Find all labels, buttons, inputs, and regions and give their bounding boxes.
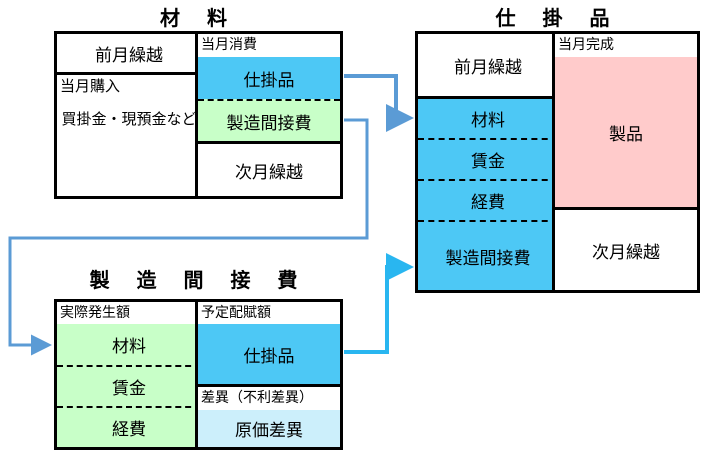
shikakarihin-cell-zairyo: 材料 xyxy=(418,96,558,138)
shikakarihin-left-column: 前月繰越 材料 賃金 経費 製造間接費 xyxy=(418,34,558,290)
title-shikakarihin: 仕 掛 品 xyxy=(415,2,700,31)
seizokansetsuhi-cell-shikakarihin: 仕掛品 xyxy=(198,324,340,384)
connector-seizokansetsuhi-to-shikakarihin xyxy=(344,267,410,352)
seizokansetsuhi-cell-keihi: 経費 xyxy=(57,406,201,447)
box-zairyo: 前月繰越 当月購入 買掛金・現預金など 当月消費 仕掛品 製造間接費 次月繰越 xyxy=(54,31,343,199)
seizokansetsuhi-cell-genka-sai: 原価差異 xyxy=(198,410,340,447)
zairyo-cell-seizokansetsuhi: 製造間接費 xyxy=(198,99,340,141)
seizokansetsuhi-cell-yotei-haifugaku: 予定配賦額 xyxy=(198,302,340,324)
zairyo-right-column: 当月消費 仕掛品 製造間接費 次月繰越 xyxy=(195,34,340,196)
shikakarihin-right-column: 当月完成 製品 次月繰越 xyxy=(552,34,697,290)
shikakarihin-cell-keihi: 経費 xyxy=(418,179,558,220)
seizokansetsuhi-cell-zairyo: 材料 xyxy=(57,324,201,365)
zairyo-cell-zengetsu-kurikoshi: 前月繰越 xyxy=(57,34,201,72)
shikakarihin-cell-jigetsu-kurikoshi: 次月繰越 xyxy=(555,207,697,290)
title-seizokansetsuhi: 製 造 間 接 費 xyxy=(54,264,343,293)
shikakarihin-cell-tougetsu-kansei: 当月完成 xyxy=(555,34,697,57)
seizokansetsuhi-cell-chingin: 賃金 xyxy=(57,365,201,406)
seizokansetsuhi-cell-jissai-hasseigaku: 実際発生額 xyxy=(57,302,201,324)
shikakarihin-cell-zengetsu-kurikoshi: 前月繰越 xyxy=(418,34,558,96)
zairyo-left-column: 前月繰越 当月購入 買掛金・現預金など xyxy=(57,34,201,196)
box-seizokansetsuhi: 実際発生額 材料 賃金 経費 予定配賦額 仕掛品 差異（不利差異） 原価差異 xyxy=(54,299,343,450)
connector-zairyo-to-shikakarihin xyxy=(344,76,410,118)
seizokansetsuhi-left-column: 実際発生額 材料 賃金 経費 xyxy=(57,302,201,447)
shikakarihin-cell-chingin: 賃金 xyxy=(418,138,558,179)
zairyo-cell-tougetsu-shouhi: 当月消費 xyxy=(198,34,340,57)
seizokansetsuhi-cell-sai: 差異（不利差異） xyxy=(198,384,340,410)
title-zairyo: 材 料 xyxy=(54,2,343,31)
zairyo-cell-kaikakekin: 買掛金・現預金など xyxy=(57,96,201,140)
zairyo-cell-tougetsu-kounyu: 当月購入 xyxy=(57,72,201,96)
zairyo-cell-shikakarihin: 仕掛品 xyxy=(198,57,340,99)
shikakarihin-cell-seihin: 製品 xyxy=(555,57,697,207)
diagram-canvas: 材 料 前月繰越 当月購入 買掛金・現預金など 当月消費 仕掛品 製造間接費 次… xyxy=(0,0,710,456)
shikakarihin-cell-seizokansetsuhi: 製造間接費 xyxy=(418,220,558,290)
zairyo-cell-jigetsu-kurikoshi: 次月繰越 xyxy=(198,141,340,196)
box-shikakarihin: 前月繰越 材料 賃金 経費 製造間接費 当月完成 製品 次月繰越 xyxy=(415,31,700,293)
seizokansetsuhi-right-column: 予定配賦額 仕掛品 差異（不利差異） 原価差異 xyxy=(195,302,340,447)
